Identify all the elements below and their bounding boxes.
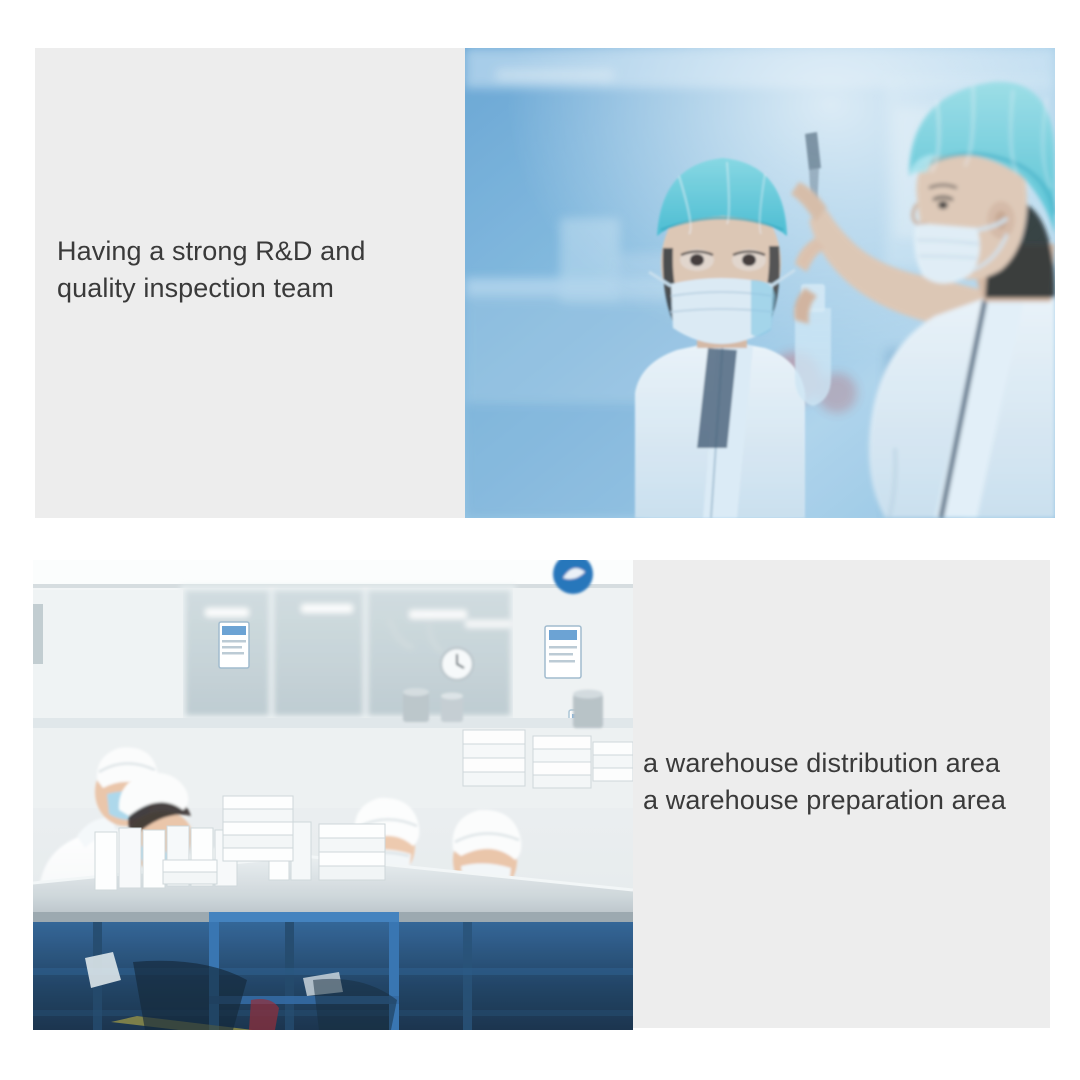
section-rd-quality-inspection: Having a strong R&D and quality inspecti… bbox=[35, 48, 1055, 518]
caption-text-rd-quality: Having a strong R&D and quality inspecti… bbox=[57, 233, 457, 308]
section-warehouse-areas: a warehouse distribution area a warehous… bbox=[33, 560, 1050, 1030]
warehouse-packing-photo bbox=[33, 560, 633, 1030]
page-root: Having a strong R&D and quality inspecti… bbox=[0, 0, 1080, 1080]
lab-technicians-illustration bbox=[465, 48, 1055, 518]
warehouse-packing-illustration bbox=[33, 560, 633, 1030]
lab-technicians-photo bbox=[465, 48, 1055, 518]
caption-text-warehouse: a warehouse distribution area a warehous… bbox=[643, 745, 1063, 820]
